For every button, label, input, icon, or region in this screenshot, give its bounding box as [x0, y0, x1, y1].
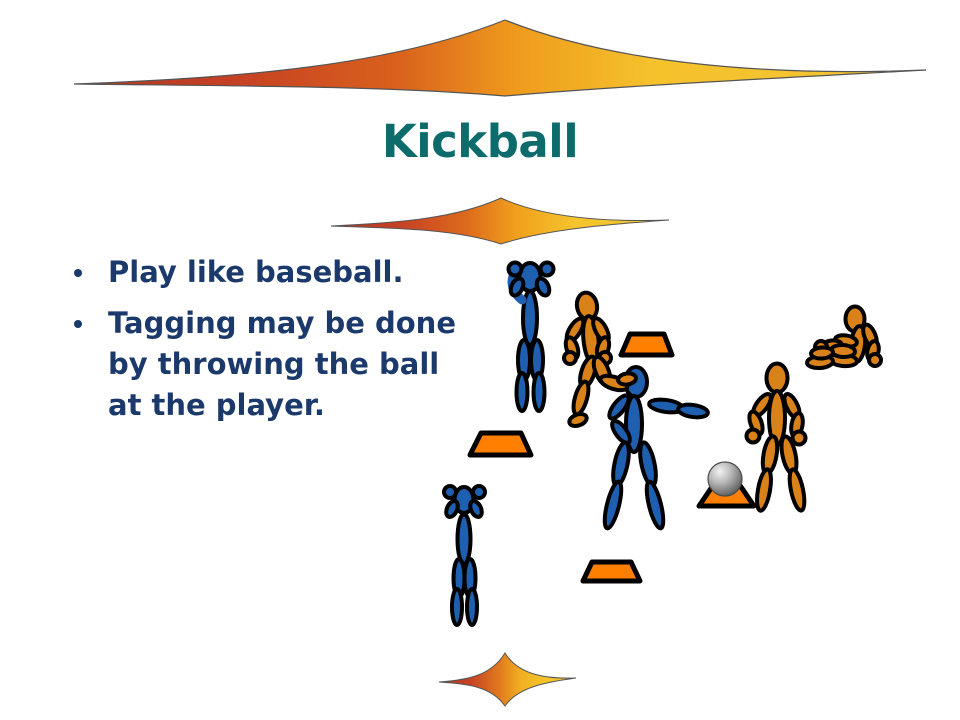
- blue-player-arms-raised-upper: [508, 263, 553, 412]
- body-bullet-list: Play like baseball. Tagging may be done …: [62, 252, 462, 436]
- slide: Kickball Play like baseball. Tagging may…: [0, 0, 960, 720]
- bullet-dot-icon: [74, 269, 82, 277]
- base-ball: [699, 478, 754, 506]
- base-left: [470, 433, 531, 455]
- bottom-diamond-ornament: [435, 648, 580, 710]
- orange-player-running: [563, 291, 636, 428]
- kickball-ball: [708, 462, 742, 496]
- middle-diamond-ornament: [325, 192, 675, 252]
- blue-player-pointing: [601, 367, 708, 530]
- orange-player-sliding: [807, 307, 881, 369]
- top-diamond-ornament: [60, 8, 940, 103]
- bullet-dot-icon: [74, 320, 82, 328]
- blue-player-arms-raised-lower: [444, 486, 485, 625]
- bullet-item-1: Play like baseball.: [62, 252, 462, 293]
- bullet-text-1: Play like baseball.: [108, 252, 462, 293]
- bullet-text-2: Tagging may be done by throwing the ball…: [108, 303, 462, 426]
- base-right-upper: [621, 334, 672, 355]
- slide-title: Kickball: [0, 118, 960, 165]
- bullet-item-2: Tagging may be done by throwing the ball…: [62, 303, 462, 426]
- base-bottom: [583, 562, 640, 581]
- orange-player-walking: [747, 364, 808, 512]
